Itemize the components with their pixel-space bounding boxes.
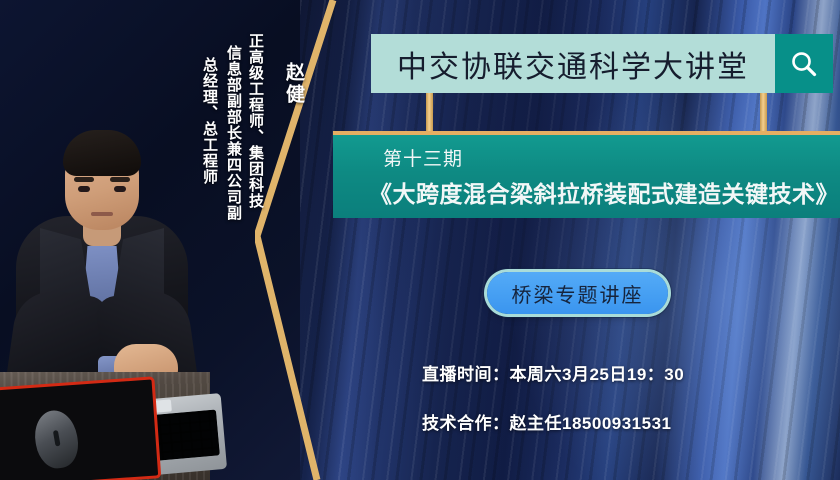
computer-mouse [31, 407, 82, 471]
eye-left [78, 186, 90, 192]
speaker-title-column-3: 总经理、总工程师 [202, 57, 217, 185]
contact-info: 技术合作：赵主任18500931531 [422, 409, 822, 434]
eye-right [114, 186, 126, 192]
mouse-pad [0, 376, 161, 480]
info-block: 直播时间：本周六3月25日19：30 技术合作：赵主任18500931531 [422, 360, 822, 458]
episode-number: 第十三期 [369, 144, 840, 171]
episode-banner: 第十三期 《大跨度混合梁斜拉桥装配式建造关键技术》 [333, 131, 840, 218]
speaker-name: 赵健 [284, 62, 303, 106]
desk-surface [0, 372, 210, 480]
mouth [91, 212, 113, 216]
eyebrow-left [74, 177, 94, 182]
search-button[interactable] [775, 34, 833, 93]
search-icon [789, 49, 819, 79]
category-button[interactable]: 桥梁专题讲座 [487, 272, 668, 314]
eyebrow-right [110, 177, 130, 182]
speaker-title-column-1: 正高级工程师、集团科技 [248, 33, 263, 209]
broadcast-time: 直播时间：本周六3月25日19：30 [422, 360, 822, 385]
page-title: 中交协联交通科学大讲堂 [397, 42, 749, 86]
episode-topic: 《大跨度混合梁斜拉桥装配式建造关键技术》 [369, 175, 840, 209]
speaker-title-column-2: 信息部副部长兼四公司副 [226, 45, 241, 221]
speaker-figure [14, 120, 190, 388]
gold-post-left [426, 93, 433, 133]
webinar-poster: 赵健 正高级工程师、集团科技 信息部副部长兼四公司副 总经理、总工程师 中交协联… [0, 0, 840, 480]
gold-post-right [760, 93, 767, 133]
gold-chevron-divider [255, 0, 375, 480]
title-bar: 中交协联交通科学大讲堂 [371, 34, 833, 93]
title-plate: 中交协联交通科学大讲堂 [371, 34, 775, 93]
speaker-photo [0, 96, 210, 480]
category-button-label: 桥梁专题讲座 [512, 279, 644, 308]
hair [63, 130, 141, 176]
